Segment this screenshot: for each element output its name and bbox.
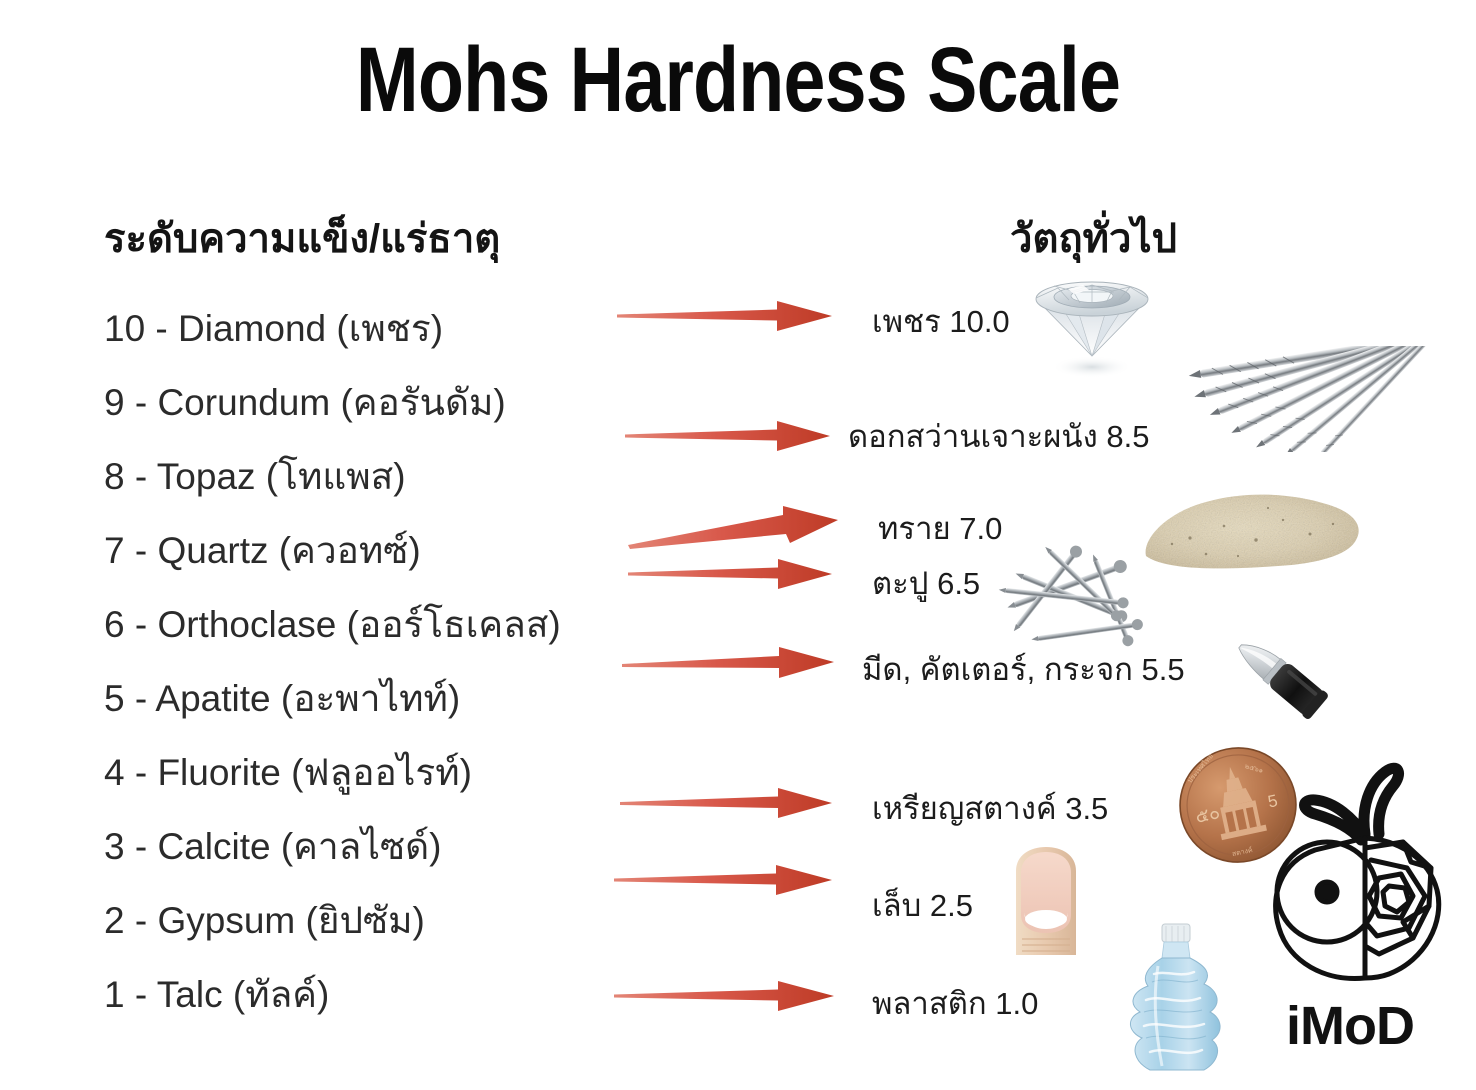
knife-image: [1204, 624, 1334, 746]
arrow-to-plastic: [614, 980, 834, 1012]
object-label-nail: ตะปู 6.5: [872, 558, 980, 608]
object-label-diamond: เพชร 10.0: [872, 296, 1010, 346]
drill-bits-image: [1186, 346, 1468, 452]
object-label-fingernail: เล็บ 2.5: [872, 880, 973, 930]
object-label-knife: มีด, คัตเตอร์, กระจก 5.5: [862, 644, 1185, 694]
object-label-plastic: พลาสติก 1.0: [872, 978, 1038, 1028]
arrow-to-nail: [628, 558, 832, 590]
page-title: Mohs Hardness Scale: [133, 34, 1343, 126]
object-label-drill-bit: ดอกสว่านเจาะผนัง 8.5: [848, 411, 1149, 461]
object-label-coin: เหรียญสตางค์ 3.5: [872, 783, 1108, 833]
arrow-to-fingernail: [614, 864, 832, 896]
fingernail-image: [1010, 845, 1082, 957]
arrow-to-coin: [620, 787, 832, 819]
nails-image: [998, 540, 1158, 650]
plastic-bottle-image: [1118, 920, 1238, 1080]
column-header-mineral-scale: ระดับความแข็ง/แร่ธาตุ: [104, 206, 500, 270]
infographic-page: Mohs Hardness Scale ระดับความแข็ง/แร่ธาต…: [0, 0, 1476, 1090]
arrow-to-diamond: [617, 300, 832, 332]
arrow-to-drill-bit: [625, 420, 830, 452]
arrow-to-sand: [628, 505, 838, 551]
diamond-image: [1028, 272, 1160, 382]
object-label-sand: ทราย 7.0: [878, 503, 1002, 553]
sand-image: [1128, 468, 1368, 588]
column-header-common-objects: วัตถุทั่วไป: [1010, 206, 1177, 270]
imod-wordmark: iMoD: [1255, 995, 1445, 1057]
arrow-to-knife: [622, 646, 834, 680]
